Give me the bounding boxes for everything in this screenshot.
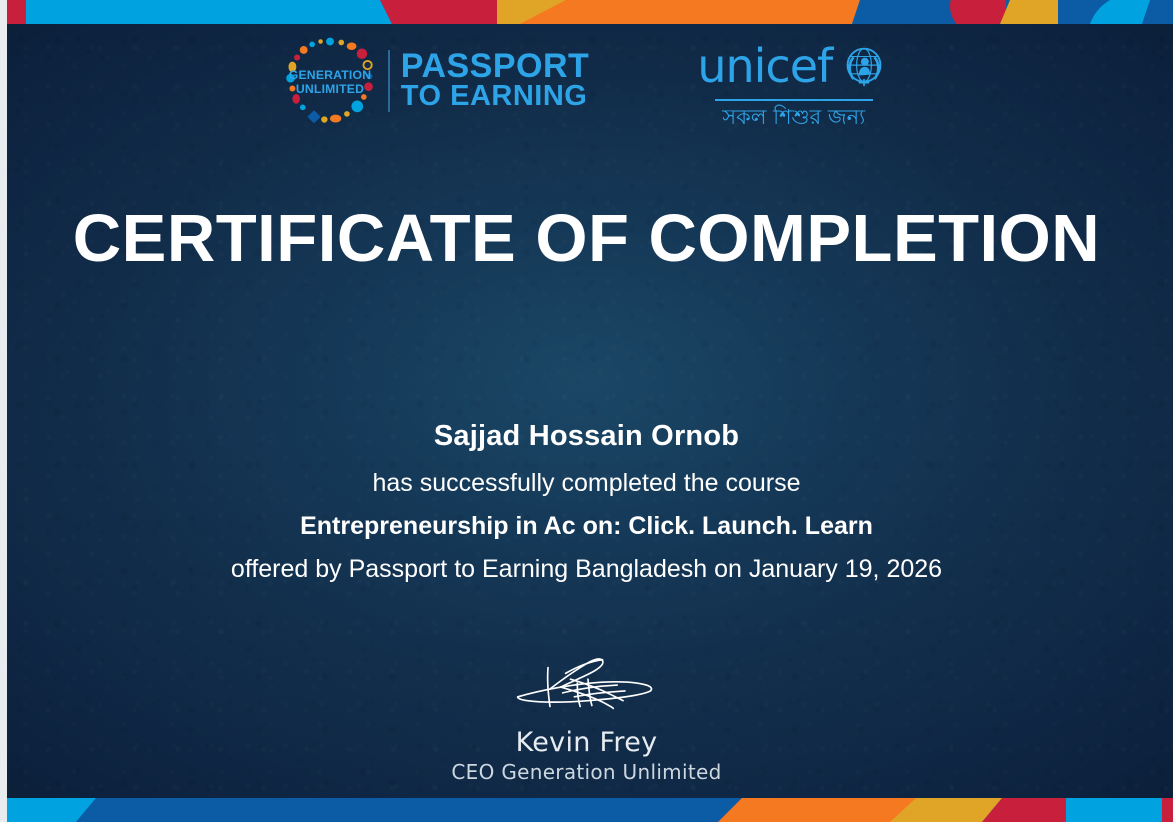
recipient-name: Sajjad Hossain Ornob xyxy=(0,420,1173,453)
signer-title: CEO Generation Unlimited xyxy=(0,760,1173,784)
unicef-rule xyxy=(715,99,873,101)
unicef-logo: unicef সক xyxy=(697,34,890,129)
unicef-emblem-icon xyxy=(838,40,890,92)
logo-row: GENERATION UNLIMITED PASSPORT TO EARNING… xyxy=(0,34,1173,129)
certificate-page: GENERATION UNLIMITED PASSPORT TO EARNING… xyxy=(0,0,1173,822)
certificate-headline: CERTIFICATE OF COMPLETION xyxy=(0,200,1173,277)
signature-block: Kevin Frey CEO Generation Unlimited xyxy=(0,650,1173,784)
certificate-body: Sajjad Hossain Ornob has successfully co… xyxy=(0,420,1173,584)
page-edge-left xyxy=(0,0,7,822)
top-decorative-band xyxy=(0,0,1173,24)
signer-name: Kevin Frey xyxy=(0,728,1173,758)
logo-divider xyxy=(388,50,390,112)
generation-unlimited-passport-logo: GENERATION UNLIMITED PASSPORT TO EARNING xyxy=(283,34,590,128)
unicef-tagline-bangla: সকল শিশুর জন্য xyxy=(722,105,865,129)
svg-text:GENERATION: GENERATION xyxy=(289,68,371,82)
issuer-and-date-line: offered by Passport to Earning Banglades… xyxy=(0,555,1173,584)
passport-word: PASSPORT xyxy=(401,51,590,83)
unicef-wordmark: unicef xyxy=(697,43,832,89)
generation-unlimited-ring-icon: GENERATION UNLIMITED xyxy=(283,34,377,128)
completion-statement: has successfully completed the course xyxy=(0,469,1173,498)
bottom-decorative-band xyxy=(0,798,1173,822)
to-earning-word: TO EARNING xyxy=(401,83,590,110)
handwritten-signature-icon xyxy=(503,650,671,726)
course-name: Entrepreneurship in Ac on: Click. Launch… xyxy=(0,512,1173,541)
svg-text:UNLIMITED: UNLIMITED xyxy=(296,82,364,96)
passport-to-earning-wordmark: PASSPORT TO EARNING xyxy=(401,51,590,110)
